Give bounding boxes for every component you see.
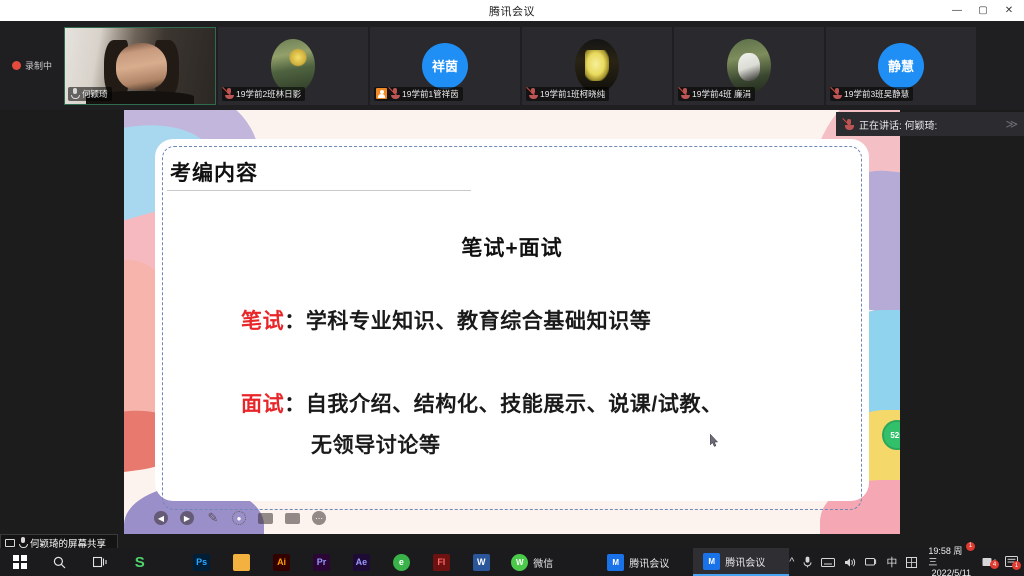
slide-line-2-separator: ： (284, 393, 306, 416)
search-icon[interactable] (40, 548, 80, 576)
action-center-icon[interactable]: 1 (1005, 556, 1018, 568)
mic-icon[interactable] (803, 556, 812, 568)
participant-tile-5[interactable]: 静慧 19学前3班吴静慧 (826, 27, 976, 105)
participant-badge: 19学前1管祥茵 (374, 87, 463, 101)
ime-indicator[interactable]: 中 (886, 554, 897, 570)
speaking-text: 正在讲话: 何颖琦: (859, 117, 937, 132)
participant-tile-0[interactable]: 何颖琦 (64, 27, 216, 105)
microphone-muted-icon (224, 88, 233, 99)
recording-label: 录制中 (25, 59, 52, 72)
screen: 腾讯会议 — ▢ ✕ 录制中 何颖琦 (0, 0, 1024, 576)
participant-name: 19学前4班 廉涓 (692, 88, 751, 100)
taskbar-app-label: 微信 (533, 555, 553, 570)
task-view-icon[interactable] (80, 548, 120, 576)
recording-indicator: 录制中 (0, 21, 64, 110)
volume-icon[interactable] (844, 557, 856, 568)
presentation-toolbar: ◀ ▶ ✎ ● ⋯ (134, 506, 404, 530)
avatar: 祥茵 (422, 43, 468, 89)
slide-line-1-body: 学科专业知识、教育综合基础知识等 (306, 310, 652, 333)
wechat-icon: W (511, 554, 528, 571)
slide-line-2-continuation: 无领导讨论等 (311, 429, 441, 459)
pen-icon[interactable]: ✎ (206, 511, 220, 525)
participant-name: 19学前2班林日影 (236, 88, 301, 100)
window-title-bar: 腾讯会议 — ▢ ✕ (0, 0, 1024, 21)
illustrator-icon[interactable]: Ai (262, 548, 302, 576)
mouse-cursor-icon (710, 434, 719, 447)
participant-badge: 19学前2班林日影 (222, 87, 305, 101)
sogou-icon[interactable]: S (120, 548, 160, 576)
notes-icon[interactable] (285, 513, 300, 524)
system-tray: ^ 中 19:58 周三 2022/5/11 1 (789, 548, 1024, 576)
shared-screen-area: 考编内容 笔试+面试 笔试：学科专业知识、教育综合基础知识等 面试：自我介绍、结… (124, 110, 900, 534)
microphone-icon (70, 88, 79, 99)
participant-name: 19学前1管祥茵 (402, 88, 459, 100)
prev-icon[interactable]: ◀ (154, 511, 168, 525)
taskbar-app-label: 腾讯会议 (725, 554, 765, 569)
microphone-muted-icon (390, 88, 399, 99)
participant-tiles: 何颖琦 19学前2班林日影 祥茵 19学前1管祥茵 (64, 27, 976, 105)
chevron-right-icon[interactable]: ≫ (1005, 117, 1016, 131)
window-controls: — ▢ ✕ (944, 0, 1022, 21)
premiere-icon[interactable]: Pr (302, 548, 342, 576)
screen-icon[interactable] (258, 513, 273, 524)
video-tray-icon[interactable]: 4 (982, 557, 996, 567)
avatar: 静慧 (878, 43, 924, 89)
network-icon[interactable] (865, 557, 877, 567)
window-title: 腾讯会议 (489, 3, 535, 19)
slide-title: 考编内容 (170, 157, 258, 187)
slide-line-1-separator: ： (284, 310, 306, 333)
slide-line-1-keyword: 笔试 (241, 310, 284, 333)
avatar (727, 39, 771, 93)
clock-time: 19:58 周三 (928, 546, 971, 568)
microphone-icon (18, 537, 27, 548)
photoshop-icon[interactable]: Ps (182, 548, 222, 576)
laser-icon[interactable]: ● (232, 511, 246, 525)
start-icon[interactable] (0, 548, 40, 576)
tencent-meeting-icon: M (703, 553, 720, 570)
slide-center-heading: 笔试+面试 (124, 232, 900, 262)
tray-overflow-icon[interactable]: ^ (789, 556, 794, 568)
notification-count-badge: 1 (966, 542, 975, 551)
flash-icon[interactable]: Fl (421, 548, 461, 576)
maximize-button[interactable]: ▢ (970, 0, 996, 21)
microphone-muted-icon (844, 119, 853, 130)
avatar (575, 39, 619, 93)
speaking-banner: 正在讲话: 何颖琦: ≫ (836, 112, 1024, 136)
windows-taskbar: S Ps Ai Pr Ae e Fl W W 微信 M 腾讯会议 M 腾讯会议 … (0, 548, 1024, 576)
participant-badge: 19学前4班 廉涓 (678, 87, 755, 101)
close-button[interactable]: ✕ (996, 0, 1022, 21)
aftereffects-icon[interactable]: Ae (341, 548, 381, 576)
edge-icon[interactable]: e (381, 548, 421, 576)
participant-badge: 何颖琦 (68, 87, 112, 101)
microphone-muted-icon (528, 88, 537, 99)
participant-tile-2[interactable]: 祥茵 19学前1管祥茵 (370, 27, 520, 105)
avatar (271, 39, 315, 93)
participant-tile-4[interactable]: 19学前4班 廉涓 (674, 27, 824, 105)
clock[interactable]: 19:58 周三 2022/5/11 1 (926, 546, 973, 576)
microphone-muted-icon (680, 88, 689, 99)
taskbar-app-wechat[interactable]: W 微信 (501, 548, 597, 576)
recording-dot-icon (12, 61, 21, 70)
keyboard-icon[interactable] (821, 558, 835, 567)
participant-badge: 19学前1班柯晓纯 (526, 87, 609, 101)
slide-line-2: 面试：自我介绍、结构化、技能展示、说课/试教、 (241, 388, 723, 418)
more-icon[interactable]: ⋯ (312, 511, 326, 525)
participant-tile-3[interactable]: 19学前1班柯晓纯 (522, 27, 672, 105)
clock-date: 2022/5/11 (932, 568, 971, 576)
title-divider (167, 190, 471, 191)
slide-line-1: 笔试：学科专业知识、教育综合基础知识等 (241, 305, 651, 335)
video-badge: 4 (990, 560, 999, 569)
participant-badge: 19学前3班吴静慧 (830, 87, 913, 101)
play-icon[interactable]: ▶ (180, 511, 194, 525)
action-center-badge: 1 (1012, 561, 1021, 570)
participant-name: 19学前1班柯晓纯 (540, 88, 605, 100)
microphone-muted-icon (832, 88, 841, 99)
participant-name: 19学前3班吴静慧 (844, 88, 909, 100)
monitor-icon (5, 539, 15, 547)
participant-tile-1[interactable]: 19学前2班林日影 (218, 27, 368, 105)
taskbar-app-tencent-meeting-1[interactable]: M 腾讯会议 (597, 548, 693, 576)
ime-panel-icon[interactable] (906, 557, 917, 568)
word-icon[interactable]: W (461, 548, 501, 576)
minimize-button[interactable]: — (944, 0, 970, 21)
slide-line-2-keyword: 面试 (241, 393, 284, 416)
participant-name: 何颖琦 (82, 88, 108, 100)
participant-filmstrip: 录制中 何颖琦 19学前2班林日影 (0, 21, 1024, 110)
explorer-icon[interactable] (222, 548, 262, 576)
host-icon (376, 88, 387, 99)
slide-line-2-body: 自我介绍、结构化、技能展示、说课/试教、 (306, 393, 723, 416)
taskbar-app-label: 腾讯会议 (629, 555, 669, 570)
tencent-meeting-icon: M (607, 554, 624, 571)
taskbar-app-tencent-meeting-2[interactable]: M 腾讯会议 (693, 548, 789, 576)
